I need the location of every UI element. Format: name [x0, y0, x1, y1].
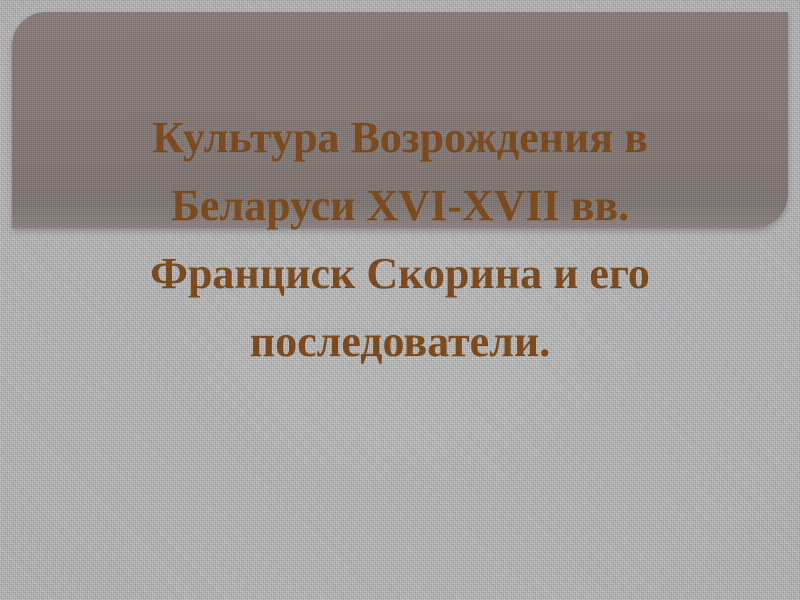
title-line-3: Франциск Скорина и его: [40, 240, 760, 308]
title-line-4: последователи.: [40, 308, 760, 376]
slide-title: Культура Возрождения в Беларуси XVI-XVII…: [40, 104, 760, 376]
title-line-1: Культура Возрождения в: [40, 104, 760, 172]
title-line-2: Беларуси XVI-XVII вв.: [40, 172, 760, 240]
presentation-slide: Культура Возрождения в Беларуси XVI-XVII…: [0, 0, 800, 600]
